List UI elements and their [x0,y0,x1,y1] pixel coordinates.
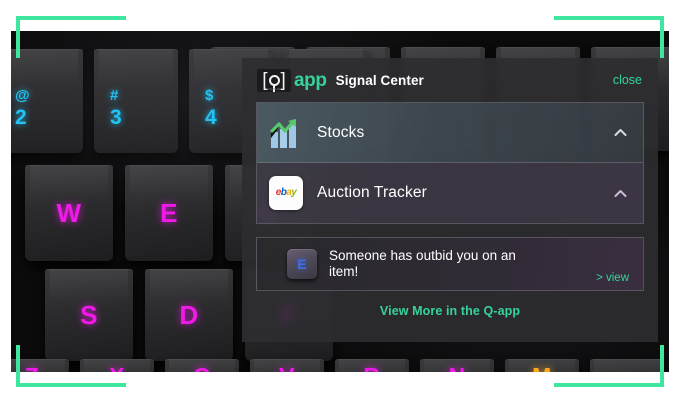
app-row-auction-tracker[interactable]: ebay Auction Tracker [257,163,643,223]
signal-center-panel: [ ] ENABLED app Signal Center close [242,58,658,342]
keyboard-key-z: Z [11,359,69,372]
key-glyph: # [110,88,119,103]
key-glyph: 4 [205,107,217,128]
key-glyph: D [179,302,198,329]
key-glyph: Z [25,365,40,372]
keyboard-key-v: V [250,359,324,372]
chevron-up-icon[interactable] [614,126,627,139]
keyboard-key-badge-icon: E [287,249,317,279]
key-glyph: 2 [15,107,27,128]
screenshot-root: @2#3$4 WER SDF ZXCVBNM<,>. [ ] ENABLED a… [0,0,680,403]
key-glyph: V [279,365,295,372]
bar-chart-icon [269,116,303,150]
ebay-letter-y: y [291,187,296,198]
keyboard-key-punct-0: <, [590,359,664,372]
key-glyph: W [56,200,81,227]
qapp-logo-icon: [ ] ENABLED [257,69,291,92]
keyboard-key-x: X [80,359,154,372]
keyboard-key-w: W [25,165,113,261]
keyboard-key-n: N [420,359,494,372]
keyboard-key-e: E [125,165,213,261]
key-glyph: S [80,302,98,329]
view-notification-link[interactable]: > view [596,272,629,290]
view-more-link[interactable]: View More in the Q-app [380,304,520,318]
notification-message: Someone has outbid you on an item! [329,248,547,281]
close-button[interactable]: close [613,73,642,87]
key-glyph: @ [15,88,30,103]
keyboard-key-m: M [505,359,579,372]
keyboard-key-d: D [145,269,233,361]
logo-q-glyph [269,75,280,86]
key-glyph: C [193,365,210,372]
logo-app-word: app [294,71,327,90]
key-glyph: M [532,365,552,372]
ebay-icon: ebay [269,176,303,210]
keyboard-key-2: @2 [11,49,83,153]
page-title: Signal Center [336,73,424,88]
panel-header: [ ] ENABLED app Signal Center close [242,58,658,102]
notification-card[interactable]: E Someone has outbid you on an item! > v… [256,237,644,291]
key-glyph: X [109,365,125,372]
keyboard-key-c: C [165,359,239,372]
chevron-up-icon[interactable] [614,187,627,200]
app-row-label-auction-tracker: Auction Tracker [317,184,427,202]
app-list: Stocks ebay Auction Tracker [256,102,644,224]
key-glyph: $ [205,88,214,103]
keyboard-row-zxcvbnm: ZXCVBNM<,>. [11,359,669,372]
panel-footer: View More in the Q-app [256,291,644,342]
app-row-label-stocks: Stocks [317,124,364,142]
keyboard-key-3: #3 [94,49,178,153]
key-glyph: E [160,200,178,227]
keyboard-key-s: S [45,269,133,361]
key-glyph: B [363,365,380,372]
keyboard-key-b: B [335,359,409,372]
key-glyph: 3 [110,107,122,128]
app-row-stocks[interactable]: Stocks [257,103,643,163]
key-glyph: N [448,365,465,372]
panel-body: Stocks ebay Auction Tracker [242,102,658,342]
logo-micro-text: ENABLED [267,88,282,91]
